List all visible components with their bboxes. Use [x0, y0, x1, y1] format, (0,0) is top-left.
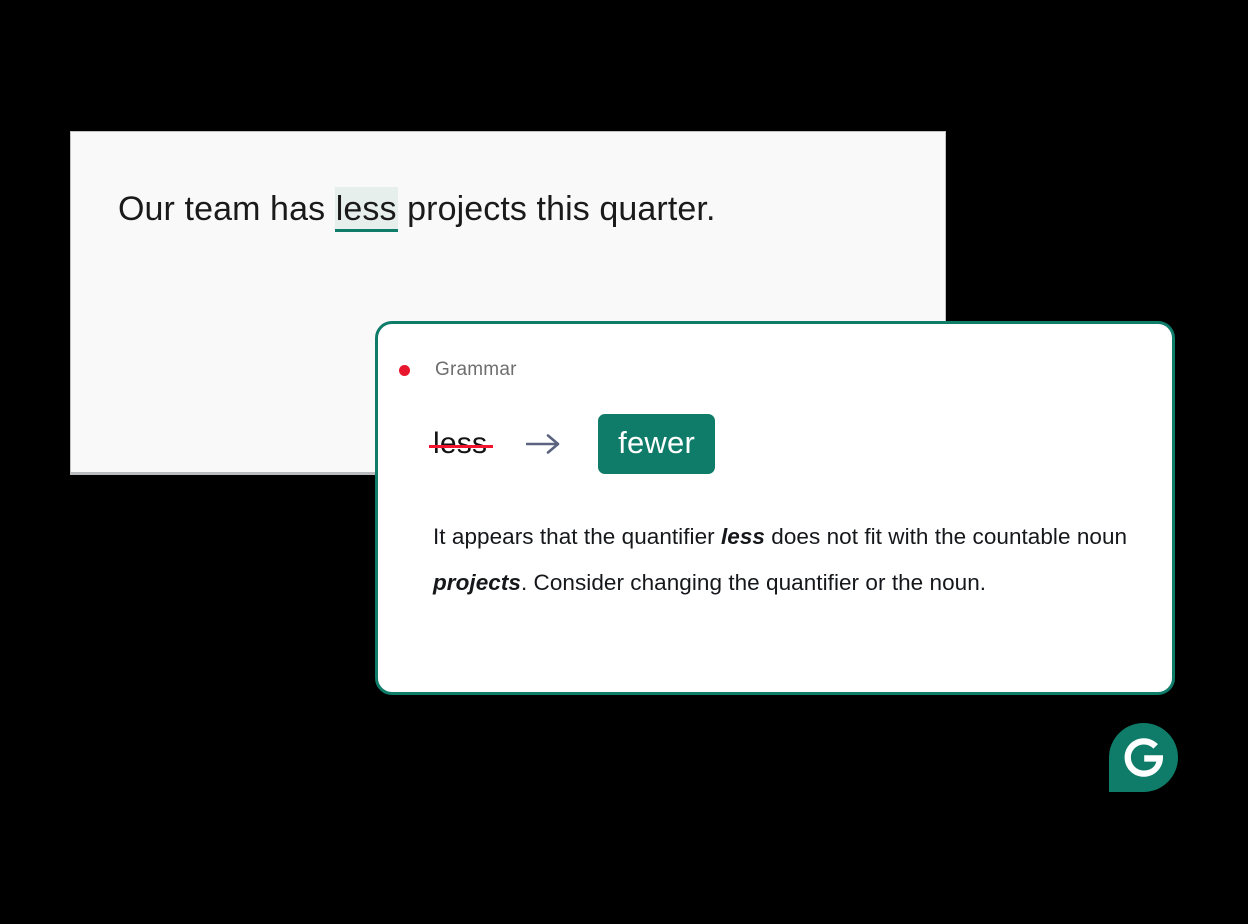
highlighted-word-less[interactable]: less — [335, 187, 398, 232]
sentence-text-after: projects this quarter. — [398, 190, 716, 228]
explanation-emphasis-less: less — [721, 524, 765, 549]
card-category-row: Grammar — [399, 359, 517, 381]
red-dot-icon — [399, 365, 410, 376]
explanation-emphasis-projects: projects — [433, 570, 521, 595]
category-label: Grammar — [435, 359, 517, 381]
grammarly-logo-icon — [1109, 723, 1178, 792]
original-word-text: less — [433, 427, 487, 460]
document-sentence[interactable]: Our team has less projects this quarter. — [118, 187, 716, 232]
replacement-suggestion-button[interactable]: fewer — [598, 414, 715, 474]
arrow-right-icon — [526, 433, 562, 455]
sentence-text-before: Our team has — [118, 190, 335, 228]
explanation-part-2: does not fit with the countable noun — [765, 524, 1127, 549]
replacement-row: less fewer — [433, 413, 715, 475]
explanation-part-1: It appears that the quantifier — [433, 524, 721, 549]
strikethrough-line — [429, 445, 493, 448]
grammar-suggestion-card[interactable]: Grammar less fewer It appears that the q… — [375, 321, 1175, 695]
original-word: less — [433, 427, 487, 461]
explanation-part-3: . Consider changing the quantifier or th… — [521, 570, 986, 595]
explanation-text: It appears that the quantifier less does… — [433, 514, 1133, 606]
